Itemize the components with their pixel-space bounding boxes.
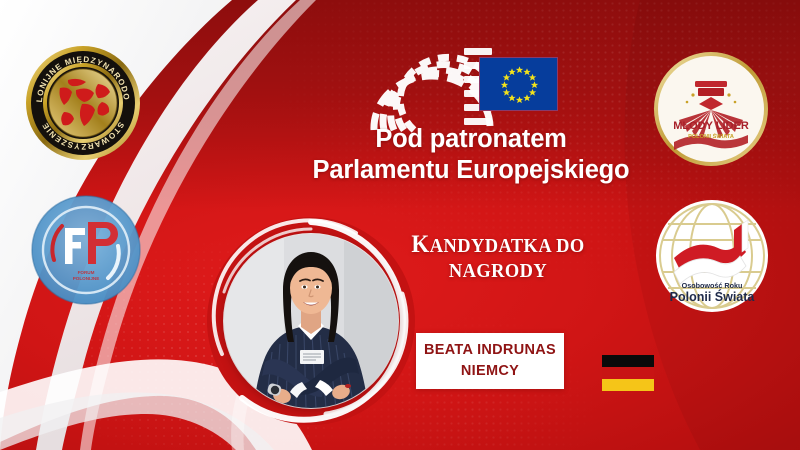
logo-mlody-lider-polonii-swiata: MŁODY LIDER POLONII ŚWIATA xyxy=(652,50,770,168)
candidate-name: BEATA INDRUNAS xyxy=(424,340,556,361)
svg-text:FORUM: FORUM xyxy=(78,270,95,275)
award-banner-rest: ANDYDATKA DO NAGRODY xyxy=(430,235,585,282)
patronage-line-1: Pod patronatem xyxy=(232,124,710,155)
logo-ml-title: MŁODY LIDER xyxy=(673,120,749,132)
logo-os-title: Osobowość Roku xyxy=(682,281,743,290)
logo-ml-subtitle: POLONII ŚWIATA xyxy=(688,133,734,140)
candidate-portrait-frame xyxy=(206,216,416,426)
patronage-text: Pod patronatem Parlamentu Europejskiego xyxy=(232,124,710,186)
candidate-nameplate: BEATA INDRUNAS NIEMCY xyxy=(416,333,564,389)
award-banner-text: KANDYDATKA DO NAGRODY xyxy=(388,232,609,282)
logo-miedzynarodowe-stowarzyszenie-polonijne: POLONIJNE MIĘDZYNARODOWE STOWARZYSZENIE xyxy=(24,44,142,162)
candidate-country: NIEMCY xyxy=(461,361,519,382)
germany-flag-icon xyxy=(602,355,654,391)
logo-osobowosc-roku-polonii-swiata: Osobowość Roku Polonii Świata xyxy=(650,196,774,320)
logo-forum-polonijne: FORUM POLONIJNE xyxy=(30,194,142,306)
svg-text:POLONIJNE: POLONIJNE xyxy=(73,276,100,281)
candidate-portrait xyxy=(224,234,398,408)
logo-os-subtitle: Polonii Świata xyxy=(670,289,756,304)
patronage-line-2: Parlamentu Europejskiego xyxy=(232,155,710,186)
award-poster: Pod patronatem Parlamentu Europejskiego … xyxy=(0,0,800,450)
european-union-flag-icon xyxy=(479,57,558,111)
